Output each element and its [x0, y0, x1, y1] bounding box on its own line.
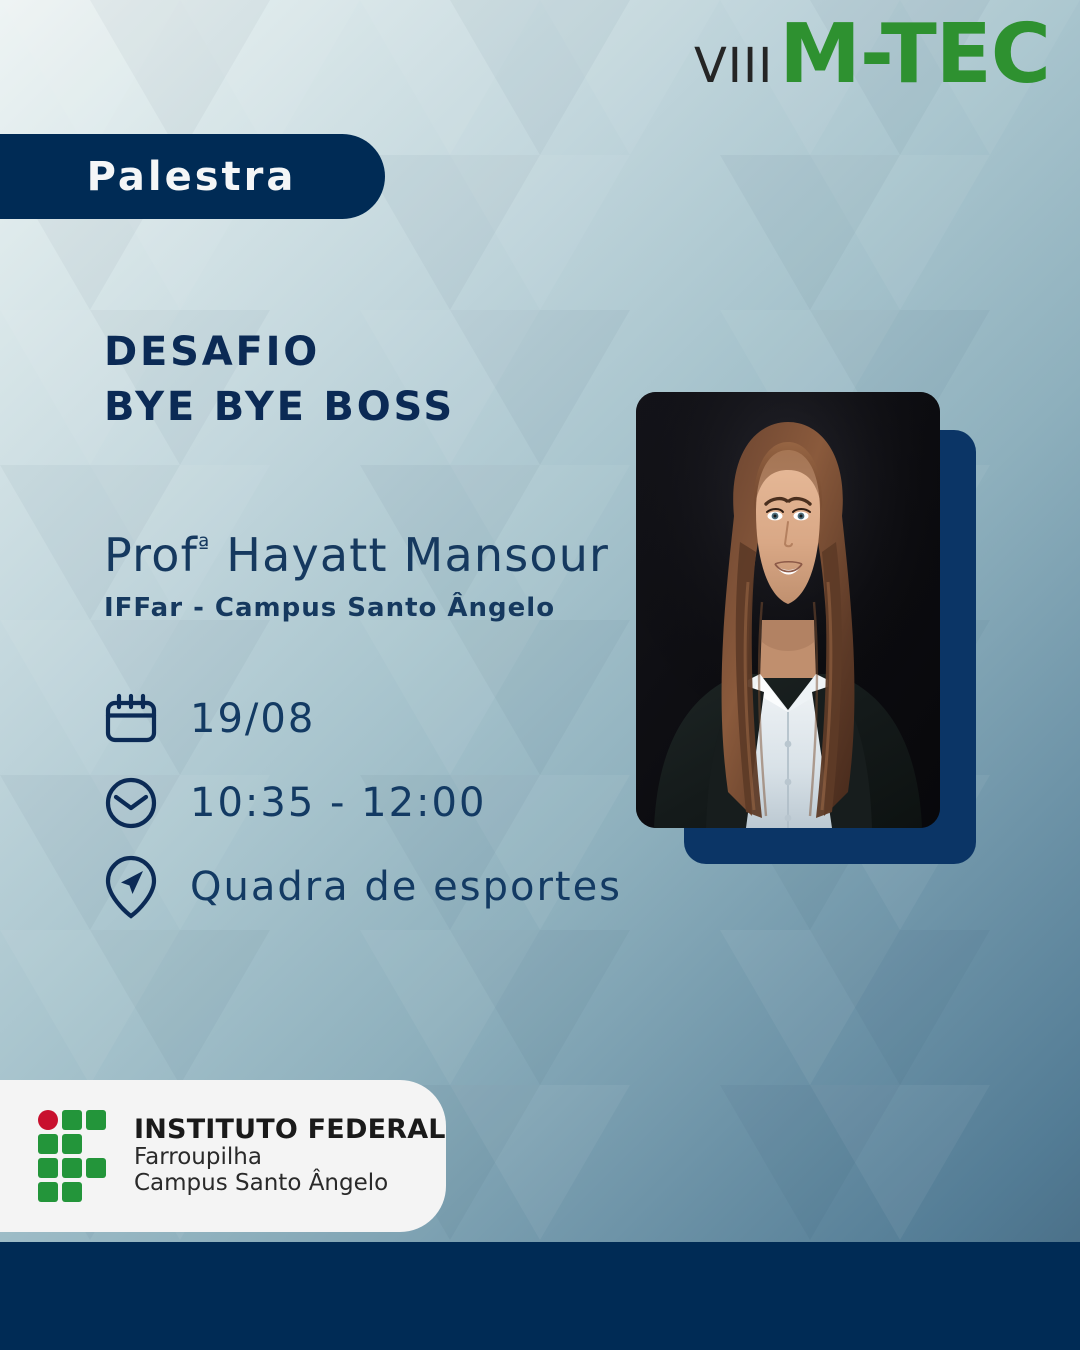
- info-row-time: 10:35 - 12:00: [100, 772, 622, 834]
- clock-icon: [100, 772, 162, 834]
- footer-bar: [0, 1242, 1080, 1350]
- info-row-location: Quadra de esportes: [100, 856, 622, 918]
- speaker-name-prefix: Prof: [104, 528, 198, 582]
- speaker-name: Profª Hayatt Mansour: [104, 530, 609, 581]
- institution-unit: Farroupilha: [134, 1145, 446, 1171]
- institution-campus: Campus Santo Ângelo: [134, 1171, 446, 1197]
- if-logo-cell: [38, 1110, 58, 1130]
- palestra-badge-label: Palestra: [87, 154, 297, 200]
- mtec-logo-name: M-TEC: [779, 14, 1050, 96]
- instituto-federal-logo-icon: [38, 1110, 110, 1202]
- mtec-logo-edition: VIII: [694, 42, 773, 90]
- info-row-date: 19/08: [100, 688, 622, 750]
- speaker-affiliation: IFFar - Campus Santo Ângelo: [104, 593, 609, 623]
- event-info-list: 19/08 10:35 - 12:00 Quadra de esportes: [100, 688, 622, 918]
- footer-institution-pill: INSTITUTO FEDERAL Farroupilha Campus San…: [0, 1080, 446, 1232]
- speaker-name-superscript: ª: [198, 533, 210, 561]
- if-logo-cell: [62, 1182, 82, 1202]
- event-poster: VIII M-TEC Palestra DESAFIO BYE BYE BOSS…: [0, 0, 1080, 1350]
- if-logo-cell: [62, 1110, 82, 1130]
- if-logo-cell: [86, 1110, 106, 1130]
- calendar-icon: [100, 688, 162, 750]
- speaker-name-main: Hayatt Mansour: [210, 528, 609, 582]
- info-value-time: 10:35 - 12:00: [190, 780, 486, 826]
- mtec-logo: VIII M-TEC: [694, 14, 1050, 96]
- if-logo-cell: [62, 1158, 82, 1178]
- institution-title: INSTITUTO FEDERAL: [134, 1115, 446, 1145]
- speaker-block: Profª Hayatt Mansour IFFar - Campus Sant…: [104, 530, 609, 623]
- info-value-date: 19/08: [190, 696, 315, 742]
- location-pin-icon: [100, 856, 162, 918]
- palestra-badge: Palestra: [0, 134, 385, 219]
- info-value-location: Quadra de esportes: [190, 864, 622, 910]
- if-logo-cell: [38, 1182, 58, 1202]
- if-logo-cell: [62, 1134, 82, 1154]
- title-line-2: BYE BYE BOSS: [104, 380, 455, 435]
- title-line-1: DESAFIO: [104, 325, 455, 380]
- if-logo-cell: [38, 1158, 58, 1178]
- speaker-photo-block: [636, 392, 976, 864]
- if-logo-cell: [86, 1134, 106, 1154]
- if-logo-cell: [38, 1134, 58, 1154]
- if-logo-cell: [86, 1158, 106, 1178]
- speaker-photo: [636, 392, 940, 828]
- page-title: DESAFIO BYE BYE BOSS: [104, 325, 455, 435]
- institution-name-block: INSTITUTO FEDERAL Farroupilha Campus San…: [134, 1115, 446, 1197]
- if-logo-cell: [86, 1182, 106, 1202]
